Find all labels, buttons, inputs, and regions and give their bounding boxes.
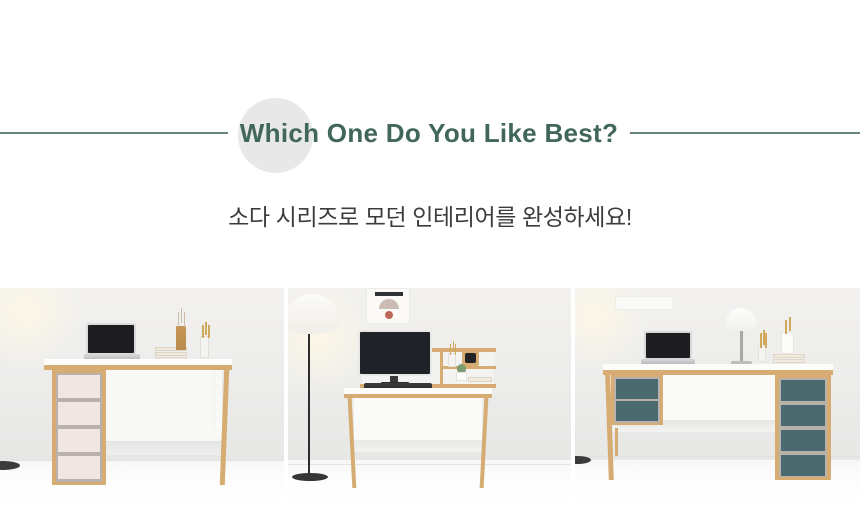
wall-art-arch — [379, 299, 399, 309]
plant-pot — [456, 372, 467, 381]
drawer-cabinet — [52, 370, 106, 485]
drawer-cabinet-left — [611, 375, 663, 425]
pencil-cup — [781, 332, 794, 354]
stick-holder — [758, 346, 766, 362]
product-gallery — [0, 288, 860, 508]
book-stack — [773, 354, 805, 364]
drawer-front — [58, 402, 100, 425]
pencil-cup — [448, 353, 456, 367]
product-photo-monitor-desk-with-shelf[interactable] — [288, 288, 572, 508]
drawer-cabinet-inner — [614, 377, 660, 423]
floor-lamp-base — [292, 473, 328, 481]
page-subtitle: 소다 시리즈로 모던 인테리어를 완성하세요! — [0, 198, 860, 232]
wall-art-bar — [375, 292, 403, 296]
wall-art-frame — [366, 288, 410, 324]
promo-header: Which One Do You Like Best? 소다 시리즈로 모던 인… — [0, 0, 860, 288]
drawer-front — [58, 375, 100, 398]
headline-rule-left — [0, 132, 228, 134]
book-stack — [468, 377, 492, 382]
table-lamp-stem — [740, 331, 743, 363]
drawer-front — [781, 380, 825, 401]
headline-rule-right — [630, 132, 860, 134]
drawer-cabinet-inner — [56, 373, 102, 482]
drawer-cabinet-right — [775, 375, 831, 480]
drawer-front — [616, 401, 658, 421]
desk-top-wood-edge — [344, 394, 492, 398]
drawer-cabinet-inner — [779, 378, 827, 477]
drawer-front — [781, 430, 825, 451]
reed-diffuser — [176, 326, 186, 350]
desk-back-panel — [354, 398, 482, 443]
desk-back-shadow — [96, 441, 222, 455]
laptop-screen — [86, 323, 136, 355]
pencil-cup — [200, 336, 209, 358]
desk-back-shadow — [354, 440, 482, 452]
drawer-front — [58, 456, 100, 479]
wall-frame-decoration — [615, 296, 673, 310]
wall-art-circle — [385, 311, 393, 319]
room-floor — [0, 460, 284, 508]
headline-container: Which One Do You Like Best? — [228, 97, 630, 169]
room-floor — [288, 460, 572, 508]
drawer-front — [616, 379, 658, 399]
laptop-screen — [644, 331, 692, 360]
desk-inner-leg — [615, 428, 618, 456]
desk-clock — [462, 350, 479, 366]
drawer-front — [781, 455, 825, 476]
desk-back-panel — [96, 370, 222, 444]
headline-row: Which One Do You Like Best? — [0, 97, 860, 169]
drawer-front — [781, 405, 825, 426]
floor-baseline — [0, 460, 284, 461]
desk-inner-leg — [213, 370, 216, 430]
floor-baseline — [288, 464, 572, 465]
monitor-screen — [358, 330, 432, 376]
product-photo-pink-drawer-desk[interactable] — [0, 288, 284, 508]
page-title: Which One Do You Like Best? — [240, 118, 618, 149]
floor-lamp-pole — [308, 334, 310, 479]
product-photo-teal-drawer-wide-desk[interactable] — [575, 288, 860, 508]
drawer-front — [58, 429, 100, 452]
